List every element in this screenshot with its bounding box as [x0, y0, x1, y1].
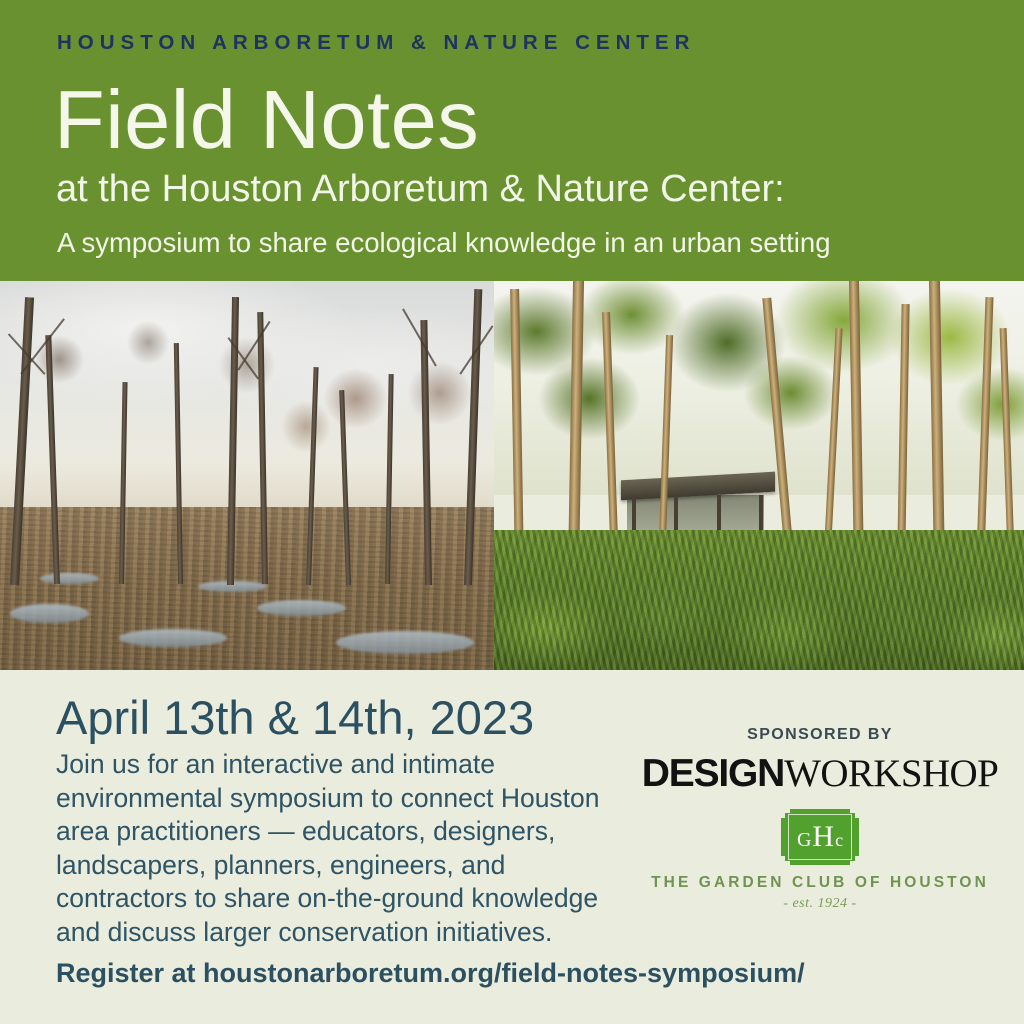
photo-summer-woodland [494, 281, 1024, 670]
design-workshop-wordmark-bold: DESIGN [642, 752, 784, 795]
description-line: landscapers, planners, engineers, and [56, 849, 646, 883]
register-link[interactable]: Register at houstonarboretum.org/field-n… [56, 958, 805, 989]
header-band: HOUSTON ARBORETUM & NATURE CENTER Field … [0, 0, 1024, 281]
puddle [119, 629, 228, 647]
ghc-letter-h: H [812, 822, 834, 852]
subtitle-primary: at the Houston Arboretum & Nature Center… [56, 166, 785, 212]
description-line: and discuss larger conservation initiati… [56, 916, 646, 950]
ghc-monogram: GHc [797, 822, 843, 852]
photo-winter-woodland [0, 281, 494, 670]
design-workshop-wordmark-serif: WORKSHOP [784, 752, 998, 795]
ghc-letter-g: G [797, 830, 811, 850]
hero-photo-strip [0, 281, 1024, 670]
organization-name: HOUSTON ARBORETUM & NATURE CENTER [57, 31, 695, 55]
page-title: Field Notes [54, 73, 479, 167]
ghc-letter-c: c [835, 831, 843, 849]
garden-club-established: - est. 1924 - [783, 896, 856, 912]
garden-club-logo: GHc THE GARDEN CLUB OF HOUSTON - est. 19… [640, 809, 1000, 912]
poster-canvas: HOUSTON ARBORETUM & NATURE CENTER Field … [0, 0, 1024, 1024]
sponsored-by-label: SPONSORED BY [640, 726, 1000, 744]
garden-club-name: THE GARDEN CLUB OF HOUSTON [651, 874, 989, 892]
description-line: contractors to share on-the-ground knowl… [56, 882, 646, 916]
event-date: April 13th & 14th, 2023 [56, 690, 534, 745]
subtitle-secondary: A symposium to share ecological knowledg… [57, 226, 831, 260]
puddle [257, 600, 346, 616]
description-line: environmental symposium to connect Houst… [56, 782, 646, 816]
description-line: Join us for an interactive and intimate [56, 748, 646, 782]
ghc-badge-icon: GHc [781, 809, 859, 865]
understory-vegetation [494, 530, 1024, 670]
description-line: area practitioners — educators, designer… [56, 815, 646, 849]
event-description: Join us for an interactive and intimate … [56, 748, 646, 949]
design-workshop-logo: DESIGNWORKSHOP [640, 753, 1000, 795]
sponsor-block: SPONSORED BY DESIGNWORKSHOP GHc THE GARD… [640, 726, 1000, 912]
